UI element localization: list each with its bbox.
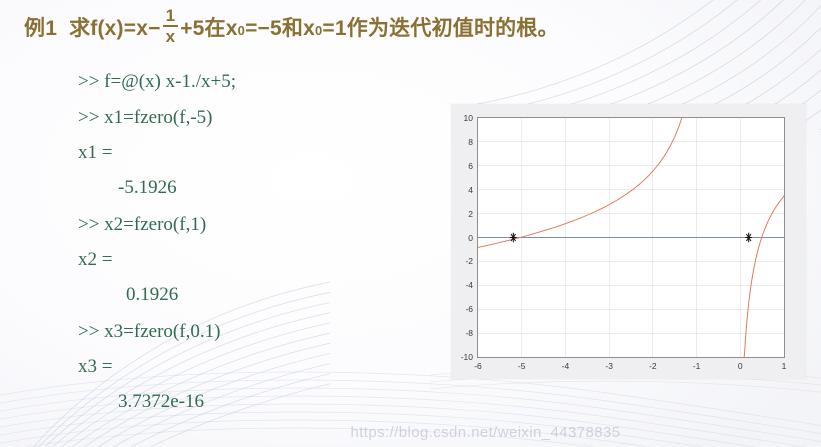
matlab-console-transcript: >> f=@(x) x-1./x+5; >> x1=fzero(f,-5) x1…: [78, 64, 458, 421]
ytick-label: -10: [461, 352, 473, 362]
page-title: 例1 求f(x)=x− 1 x +5在x0=−5和x0=1作为迭代初值时的根。: [24, 8, 559, 46]
xtick-label: 1: [782, 361, 787, 371]
code-line-prompt-4: >> x3=fzero(f,0.1): [78, 314, 458, 350]
title-part3: =−5和x: [245, 12, 315, 42]
code-line-output-value-3: 3.7372e-16: [78, 383, 458, 421]
title-part4: =1作为迭代初值时的根。: [322, 12, 558, 42]
ytick-label: 6: [468, 161, 473, 171]
title-subscript-2: 0: [315, 23, 322, 38]
ytick-label: 2: [468, 209, 473, 219]
xtick-label: 0: [738, 361, 743, 371]
code-line-output-value-2: 0.1926: [78, 276, 458, 314]
ytick-label: 0: [468, 233, 473, 243]
title-part2: +5在x: [180, 12, 237, 42]
ytick-label: -6: [465, 304, 473, 314]
plot-axes: 10 8 6 4 2 0 -2 -4 -6 -8 -10 -6 -5 -4 -3…: [477, 117, 785, 358]
ytick-label: -8: [465, 328, 473, 338]
fraction-denominator: x: [163, 27, 179, 45]
code-line-prompt-3: >> x2=fzero(f,1): [78, 207, 458, 243]
fraction-numerator: 1: [163, 7, 179, 25]
code-line-prompt-1: >> f=@(x) x-1./x+5;: [78, 64, 458, 100]
title-subscript-1: 0: [238, 23, 245, 38]
function-curve-right-branch: [744, 196, 784, 357]
code-line-output-value-1: -5.1926: [78, 169, 458, 207]
xtick-label: -6: [474, 361, 482, 371]
xtick-label: -2: [649, 361, 657, 371]
ytick-label: 4: [468, 185, 473, 195]
watermark-url: https://blog.csdn.net/weixin_44378835: [0, 424, 821, 441]
plot-canvas: [478, 118, 784, 357]
xtick-label: -4: [562, 361, 570, 371]
code-line-output-label-3: x3 =: [78, 350, 458, 383]
xtick-label: -1: [693, 361, 701, 371]
slide-canvas: 例1 求f(x)=x− 1 x +5在x0=−5和x0=1作为迭代初值时的根。 …: [0, 0, 821, 447]
function-curve-left-branch: [478, 118, 682, 247]
matlab-figure-panel: 10 8 6 4 2 0 -2 -4 -6 -8 -10 -6 -5 -4 -3…: [451, 104, 806, 379]
xtick-label: -5: [518, 361, 526, 371]
ytick-label: 10: [464, 113, 473, 123]
ytick-label: 8: [468, 137, 473, 147]
ytick-label: -4: [465, 280, 473, 290]
xtick-label: -3: [605, 361, 613, 371]
code-line-output-label-2: x2 =: [78, 243, 458, 276]
fraction-one-over-x: 1 x: [163, 7, 179, 45]
code-line-output-label-1: x1 =: [78, 136, 458, 169]
title-prefix: 例1: [24, 12, 57, 42]
code-line-prompt-2: >> x1=fzero(f,-5): [78, 100, 458, 136]
title-part1: 求f(x)=x−: [69, 12, 160, 42]
ytick-label: -2: [465, 256, 473, 266]
